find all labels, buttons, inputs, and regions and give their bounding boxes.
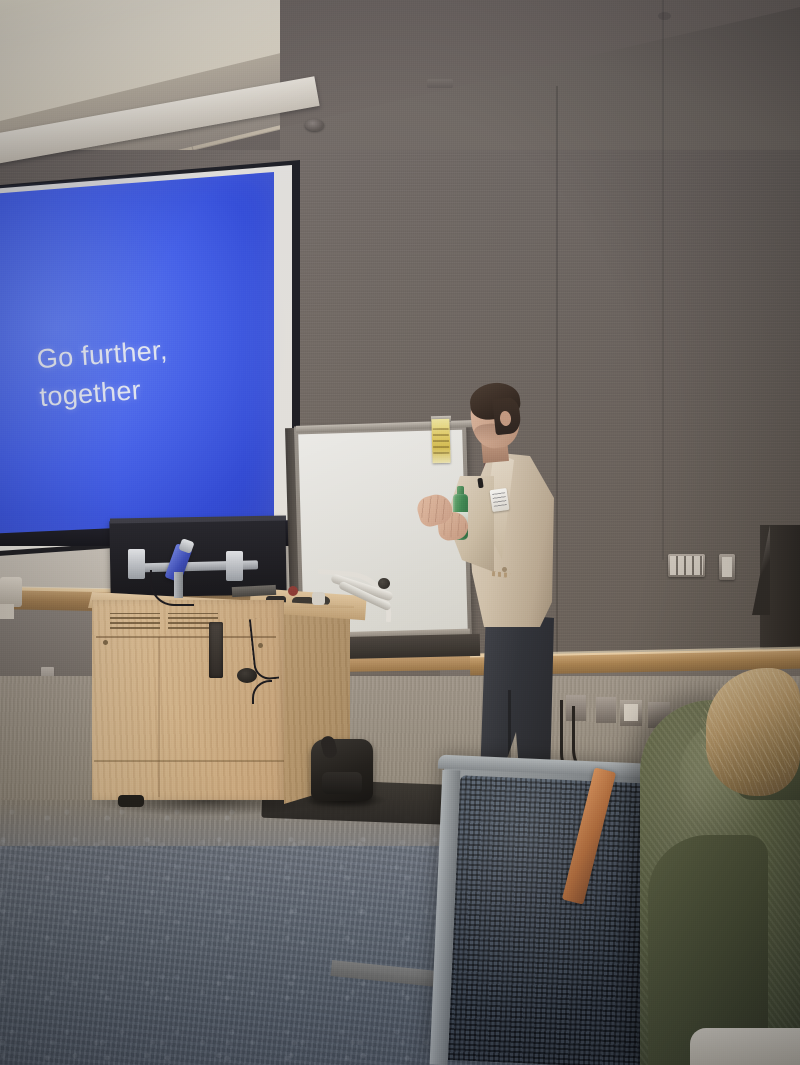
- lectern-base-seam: [94, 760, 284, 762]
- backpack-pocket: [322, 772, 362, 794]
- monitor-arm-mount: [226, 551, 243, 581]
- ceiling-vent-icon: [427, 79, 453, 88]
- poster-text-lines: [433, 428, 450, 454]
- monitor-arm-mount: [128, 549, 145, 579]
- light-switch-keys[interactable]: [670, 556, 703, 575]
- wall-panel-seam: [662, 0, 664, 560]
- desk-indicator-light: [288, 586, 298, 596]
- wall-panel-seam: [556, 86, 558, 676]
- ceiling-sensor-icon: [658, 12, 671, 20]
- lectern-caster-wheel: [118, 795, 144, 807]
- name-badge-text: [492, 492, 507, 507]
- lectern-door-seam: [96, 636, 276, 638]
- hanging-microphone-puck: [237, 668, 257, 683]
- conference-room-photo: Go further, together: [0, 0, 800, 1065]
- lectern-vent-slots: [110, 613, 160, 629]
- ceiling-speaker-icon: [305, 119, 324, 131]
- left-shelf-object: [0, 604, 14, 619]
- single-light-switch-key[interactable]: [722, 557, 732, 577]
- lectern-control-panel[interactable]: [209, 622, 223, 678]
- slide-headline-text: Go further, together: [36, 324, 271, 417]
- lectern-door-seam: [158, 637, 160, 797]
- seated-attendee-lap: [690, 1028, 800, 1065]
- microphone-joint: [312, 592, 325, 605]
- microphone-capsule: [378, 578, 390, 589]
- lectern-lock-icon[interactable]: [103, 640, 108, 645]
- left-shelf-object: [0, 577, 22, 607]
